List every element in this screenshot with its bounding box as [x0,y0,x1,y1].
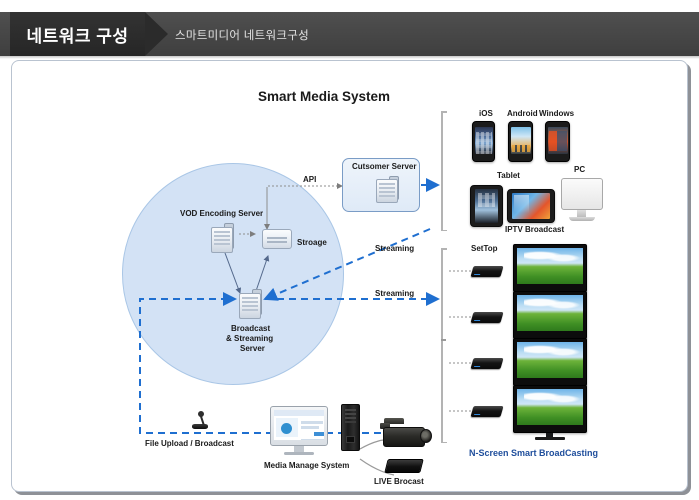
nscreen-label: N-Screen Smart BroadCasting [469,448,598,459]
media-manage-system-base [284,452,314,455]
galaxy-tablet-icon [507,189,555,223]
header-tab-arrow [145,12,168,56]
microphone-head [198,411,204,417]
streaming-label-2: Streaming [375,289,414,299]
storage-icon [262,229,292,249]
settop-box-2 [470,312,503,323]
pc-monitor-neck [577,210,586,217]
customer-server-label: Cutsomer Server [352,162,416,172]
diagram-canvas: Smart Media System [12,61,687,491]
tv-stand-4 [535,437,565,440]
header-tab-title: 네트워크 구성 [26,22,128,47]
header-bar-shadow [0,56,699,59]
header-subtitle: 스마트미디어 네트워크구성 [175,27,309,43]
windows-label: Windows [539,109,574,119]
ipad-tablet-icon [470,185,503,227]
diagram-title: Smart Media System [258,89,390,104]
content-frame: Smart Media System [11,60,688,492]
slide-page: 네트워크 구성 스마트미디어 네트워크구성 Smart Media System [0,0,699,500]
settop-label: SetTop [471,244,498,254]
pc-label: PC [574,165,585,175]
tv-screen-1 [513,244,587,292]
settop-box-4 [470,406,503,417]
live-broadcast-encoder-box [384,459,423,473]
pc-tower-icon [341,404,360,451]
tv-screen-3 [513,338,587,386]
ios-phone-icon [472,121,495,162]
camcorder-body [383,427,425,447]
iptv-broadcast-label: IPTV Broadcast [505,225,564,235]
vod-encoding-server-icon [211,227,233,253]
broadcast-server-label-2: & Streaming [226,334,273,344]
tablet-label: Tablet [497,171,520,181]
tv-screen-4 [513,385,587,433]
bracket-devices [441,111,443,231]
android-label: Android [507,109,538,119]
streaming-label-1: Streaming [375,244,414,254]
windows-phone-icon [545,121,570,162]
media-manage-system-label: Media Manage System [264,461,349,471]
settop-box-3 [470,358,503,369]
broadcast-server-label-3: Server [240,344,265,354]
file-upload-broadcast-label: File Upload / Broadcast [145,439,234,449]
microphone-base [192,424,208,429]
pc-monitor-base [569,217,595,221]
bracket-iptv [441,248,443,443]
media-manage-system-monitor [270,406,328,446]
broadcast-streaming-server-icon [239,293,261,319]
android-phone-icon [508,121,533,162]
storage-label: Stroage [297,238,327,248]
vod-encoding-server-label: VOD Encoding Server [180,209,263,219]
api-label: API [303,175,316,185]
settop-box-1 [470,266,503,277]
core-network-circle [122,163,344,385]
broadcast-server-label-1: Broadcast [231,324,270,334]
bracket-iptv-midtick [441,339,446,341]
camcorder-lens [420,429,432,443]
pc-monitor-icon [561,178,603,210]
live-brocast-label: LIVE Brocast [374,477,424,487]
tv-screen-2 [513,291,587,339]
header-tab[interactable]: 네트워크 구성 [10,12,145,56]
customer-server-icon [376,179,398,203]
ios-label: iOS [479,109,493,119]
